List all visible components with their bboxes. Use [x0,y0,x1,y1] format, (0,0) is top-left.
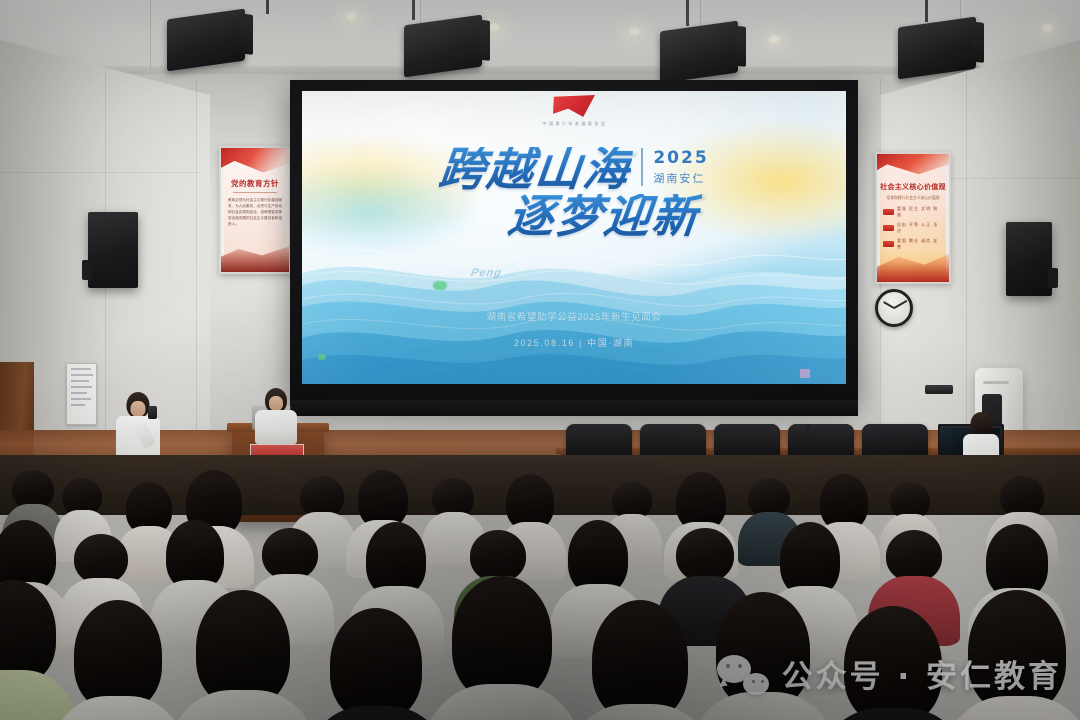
light-rod [412,0,415,20]
hair [780,522,840,596]
wechat-icon [717,653,769,695]
hair [196,590,290,706]
hair [452,576,552,700]
downlight [767,35,782,45]
headline-row-2: 逐梦迎新 [302,194,846,239]
wall-seam [196,78,197,458]
logo-caption: 中 国 青 少 年 发 展 基 金 会 [517,121,631,127]
hair [330,608,422,720]
presenter-at-podium [248,388,304,442]
presenter-face [269,396,283,411]
value-text: 爱国 敬业 诚信 友善 [897,238,943,250]
torso [942,696,1080,720]
slide-content: 中 国 青 少 年 发 展 基 金 会 跨越山海 2025 湖南安仁 逐梦迎新 … [302,91,846,384]
ceiling-seam [150,0,151,70]
stage-light [898,17,976,80]
hair [592,600,688,720]
wall-vent [925,385,953,394]
poster-value-row: 爱国 敬业 诚信 友善 [883,238,943,250]
light-rod [266,0,269,14]
value-text: 富强 民主 文明 和谐 [897,206,943,218]
projection-screen[interactable]: 中 国 青 少 年 发 展 基 金 会 跨越山海 2025 湖南安仁 逐梦迎新 … [290,80,858,400]
torso [304,706,450,720]
notice-line [71,404,85,406]
wechat-bubble-small [743,673,769,695]
ac-display-strip [983,381,1009,384]
torso [816,708,970,720]
light-rod [925,0,928,22]
presenter-shirt [255,410,297,444]
right-wall-speaker [1006,222,1052,296]
green-fleck [433,281,447,290]
hair [74,600,162,710]
slide-place: 湖南安仁 [653,170,708,186]
wechat-bubble-tail [719,677,730,689]
poster-title: 社会主义核心价值观 [877,182,949,192]
notice-line [71,398,91,400]
headline-row-1: 跨越山海 2025 湖南安仁 [302,147,846,192]
poster-value-row: 自由 平等 公正 法治 [883,222,943,234]
poster-subtitle: 培育和践行社会主义核心价值观 [877,196,949,201]
poster-title: 党的教育方针 [221,178,289,189]
wall-notice-frame [66,363,97,425]
auditorium-photo: 党的教育方针 教育必须为社会主义现代化建设服务、为人民服务，必须与生产劳动和社会… [0,0,1080,720]
speaker-bracket [82,260,92,280]
wechat-eye-dot [738,664,742,668]
downlight [344,12,359,22]
torso [564,704,716,720]
torso [688,692,838,720]
headline-side-block: 2025 湖南安仁 [641,148,708,186]
notice-line [71,368,91,370]
clock-minute-hand [893,300,907,309]
poster-value-row: 富强 民主 文明 和谐 [883,206,943,218]
stage-light [167,9,245,72]
wechat-eye-dot [726,664,730,668]
value-chip [883,225,894,231]
left-wall-speaker [88,212,138,288]
hair [986,524,1048,598]
torso [168,690,318,720]
poster-value-rows: 富强 民主 文明 和谐 自由 平等 公正 法治 爱国 敬业 诚信 友善 [883,206,943,250]
slide-headline: 跨越山海 2025 湖南安仁 逐梦迎新 [302,147,846,239]
wechat-eye-dot [761,680,764,683]
slide-year: 2025 [653,148,708,168]
notice-line [71,386,92,388]
wall-clock [875,289,913,327]
notice-line [71,380,89,382]
wall-seam [0,172,200,173]
hair [568,520,628,594]
wechat-eye-dot [752,680,755,683]
screen-bottom-bezel [290,400,858,416]
student-head [971,412,992,436]
value-chip [883,209,894,215]
torso [422,684,582,720]
slide-corner-mark [800,369,810,378]
slide-logo: 中 国 青 少 年 发 展 基 金 会 [514,95,634,127]
poster-body: 教育必须为社会主义现代化建设服务、为人民服务，必须与生产劳动和社会实践相结合，培… [228,197,282,228]
red-flag-icon [553,95,595,117]
head [886,530,942,582]
light-rod [686,0,689,26]
hair [366,522,426,596]
head [74,534,128,584]
photographer-face [131,401,146,417]
headline-line-1: 跨越山海 [437,147,634,192]
watermark: 公众号 · 安仁教育 [717,651,1062,696]
stage-light [660,21,738,84]
watermark-text: 公众号 · 安仁教育 [782,651,1062,696]
head [470,530,526,582]
value-chip [883,241,894,247]
socialist-core-values-poster: 社会主义核心价值观 培育和践行社会主义核心价值观 富强 民主 文明 和谐 自由 … [875,152,951,284]
phone [148,406,157,419]
green-fleck [318,354,326,360]
slide-date: 2025.08.16 | 中国·湖南 [302,336,846,349]
head [676,528,734,582]
slide-subtitle: 湖南省希望助学公益2025年新生见面会 [302,309,846,323]
speaker-bracket [1048,268,1058,288]
value-text: 自由 平等 公正 法治 [897,222,943,234]
headline-line-2: 逐梦迎新 [506,194,703,239]
poster-divider [233,192,277,193]
pinyin-decoration: Peng [469,267,502,279]
notice-line [71,392,87,394]
downlight [1040,24,1055,34]
notice-line [71,374,93,376]
head [262,528,318,580]
downlight [627,27,642,37]
stage-light [404,15,482,78]
party-education-policy-poster: 党的教育方针 教育必须为社会主义现代化建设服务、为人民服务，必须与生产劳动和社会… [219,146,291,274]
